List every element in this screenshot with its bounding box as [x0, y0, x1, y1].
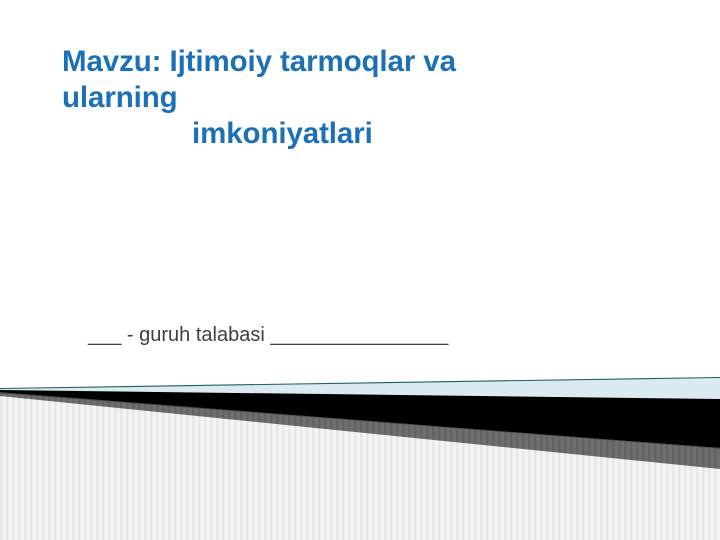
slide: Mavzu: Ijtimoiy tarmoqlar va ularning im… — [0, 0, 720, 540]
black-band — [0, 390, 720, 448]
texture-base — [0, 391, 720, 540]
title-line-3: imkoniyatlari — [62, 116, 662, 152]
slide-subtitle: ___ - guruh talabasi ________________ — [88, 322, 688, 348]
title-line-1: Mavzu: Ijtimoiy tarmoqlar va — [62, 44, 662, 80]
slide-title: Mavzu: Ijtimoiy tarmoqlar va ularning im… — [62, 44, 662, 152]
pale-blue-wedge-wide — [0, 378, 720, 399]
pale-blue-wedge — [0, 378, 720, 400]
gray-band — [0, 393, 720, 469]
teal-outline — [0, 378, 720, 389]
dark-edge-line — [0, 393, 720, 449]
title-line-2: ularning — [62, 80, 662, 116]
subtitle-text: ___ - guruh talabasi ________________ — [88, 322, 688, 348]
